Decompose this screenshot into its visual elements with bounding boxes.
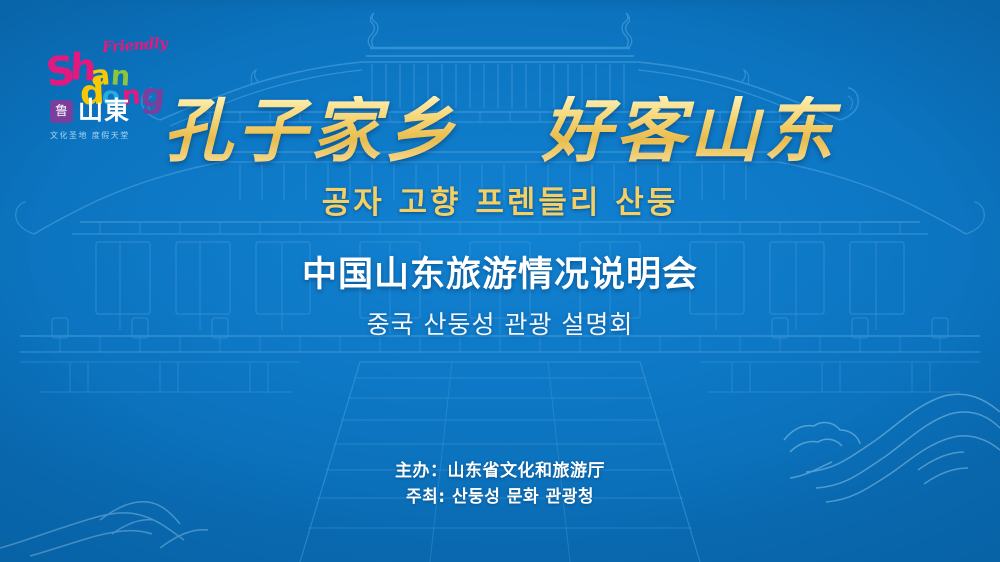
event-heading-korean: 중국 산둥성 관광 설명회 — [0, 312, 1000, 337]
main-title: 孔子家乡 好客山东 — [0, 96, 1000, 166]
main-title-korean: 공자 고향 프렌들리 산둥 — [0, 188, 1000, 219]
organizer-korean: 주최: 산둥성 문화 관광청 — [0, 484, 1000, 510]
main-title-part-1: 孔子家乡 — [163, 89, 459, 172]
event-heading-chinese: 中国山东旅游情况说明会 — [0, 258, 1000, 293]
organizer-block: 主办：山东省文化和旅游厅 주최: 산둥성 문화 관광청 — [0, 458, 1000, 510]
promo-poster: Friendly S h a n d o n g 鲁 山東 文化圣地 度假天堂 … — [0, 0, 1000, 562]
main-title-part-2: 好客山东 — [541, 89, 837, 172]
organizer-chinese: 主办：山东省文化和旅游厅 — [0, 458, 1000, 484]
